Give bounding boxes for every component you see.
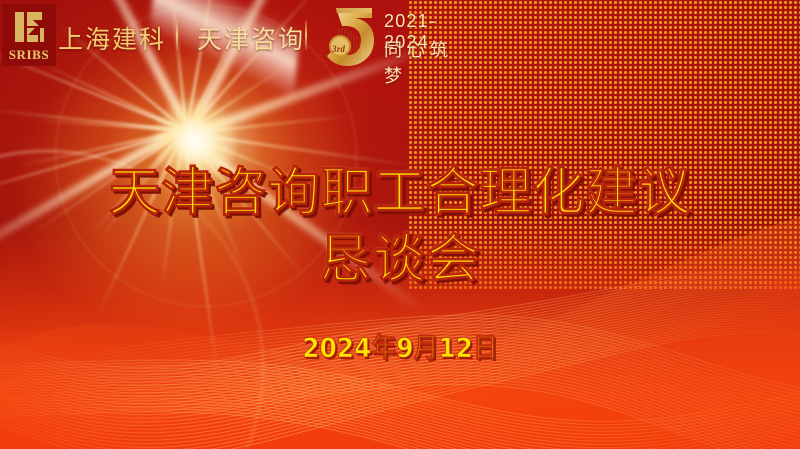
poster-date: 2024年9月12日	[32, 334, 768, 364]
sribs-monogram-icon	[9, 7, 49, 47]
anniversary-numeral-icon	[322, 2, 384, 68]
event-poster: SRIBS 上海建科 天津咨询	[0, 0, 800, 449]
header-bar: SRIBS 上海建科 天津咨询	[0, 0, 800, 72]
anniversary-badge: 3rd 2021-2024 同心筑梦	[322, 4, 462, 68]
brand-shanghai-jianke: 上海建科	[58, 20, 166, 56]
sribs-wordmark: SRIBS	[9, 48, 50, 62]
anniversary-slogan: 同心筑梦	[384, 36, 462, 88]
poster-title-line-2: 恳谈会	[0, 232, 800, 288]
brand-tianjin-zixun: 天津咨询	[197, 20, 305, 56]
anniversary-ordinal: 3rd	[332, 44, 345, 54]
poster-title-line-1: 天津咨询职工合理化建议	[0, 165, 800, 221]
header-divider-1	[176, 20, 178, 50]
header-divider-2	[305, 20, 307, 50]
sribs-logo: SRIBS	[2, 4, 56, 66]
